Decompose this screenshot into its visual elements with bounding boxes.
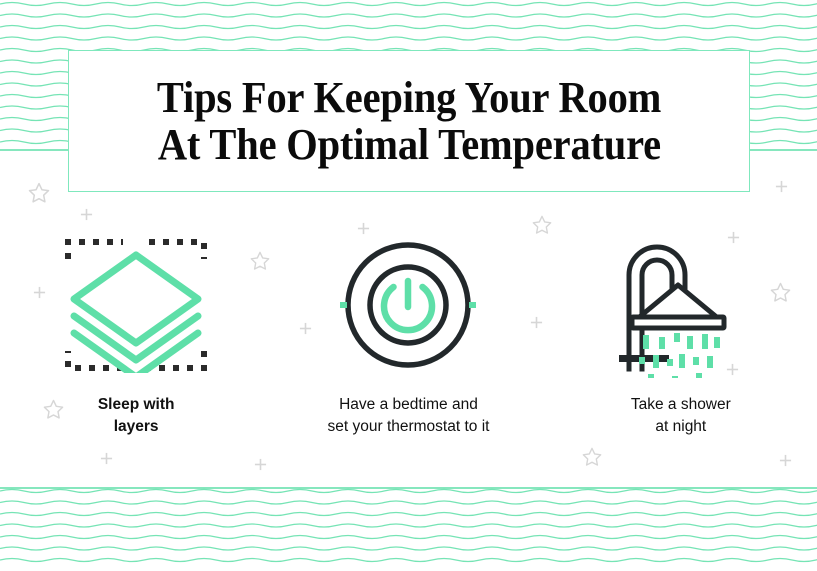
star-outline-icon xyxy=(27,181,51,205)
tip-caption-line-2: at night xyxy=(631,416,731,438)
tip-card-bedtime-thermostat: Have a bedtime and set your thermostat t… xyxy=(272,230,544,445)
star-outline-icon xyxy=(581,446,603,468)
tips-row: Sleep with layers Have a bedtime and set… xyxy=(0,230,817,445)
infographic-canvas: Tips For Keeping Your Room At The Optima… xyxy=(0,0,817,571)
tip-caption-line-2: set your thermostat to it xyxy=(328,416,490,438)
tip-caption: Have a bedtime and set your thermostat t… xyxy=(328,394,490,438)
title-card: Tips For Keeping Your Room At The Optima… xyxy=(68,50,750,192)
tip-caption-line-2: layers xyxy=(98,416,175,438)
tip-caption: Sleep with layers xyxy=(98,394,175,438)
tip-card-take-a-shower: Take a shower at night xyxy=(545,230,817,445)
layers-icon xyxy=(63,230,209,380)
plus-icon xyxy=(775,180,788,193)
plus-icon xyxy=(779,454,792,467)
tip-card-sleep-with-layers: Sleep with layers xyxy=(0,230,272,445)
page-title-line-1: Tips For Keeping Your Room xyxy=(157,74,661,121)
plus-icon xyxy=(100,452,113,465)
power-button-icon xyxy=(338,230,478,380)
tip-caption-line-1: Sleep with xyxy=(98,394,175,416)
tip-caption-line-1: Have a bedtime and xyxy=(328,394,490,416)
page-title-line-2: At The Optimal Temperature xyxy=(157,121,660,168)
wave-pattern-bottom xyxy=(0,487,817,571)
tip-caption-line-1: Take a shower xyxy=(631,394,731,416)
tip-caption: Take a shower at night xyxy=(631,394,731,438)
plus-icon xyxy=(80,208,93,221)
plus-icon xyxy=(254,458,267,471)
shower-icon xyxy=(615,230,747,380)
